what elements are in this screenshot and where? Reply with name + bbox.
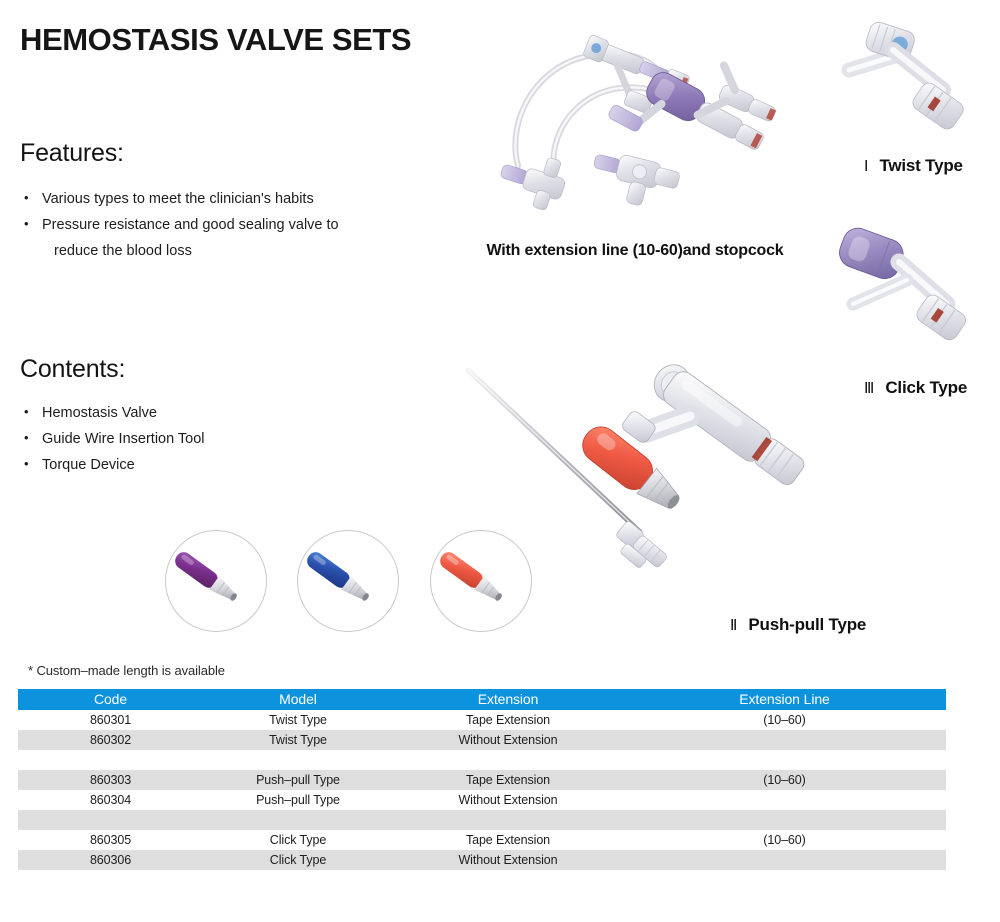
content-text: Hemostasis Valve: [42, 405, 157, 421]
list-item: Hemostasis Valve: [22, 400, 422, 426]
torque-device-blue: [297, 530, 399, 632]
cell-extension: Without Extension: [393, 790, 623, 810]
cell-model: [203, 810, 393, 830]
column-header-model: Model: [203, 689, 393, 710]
cell-extension-line: (10–60): [623, 710, 946, 730]
table-row: 860303 Push–pull Type Tape Extension (10…: [18, 770, 946, 790]
list-item: Guide Wire Insertion Tool: [22, 426, 422, 452]
cell-extension-line: (10–60): [623, 770, 946, 790]
cell-model: Click Type: [203, 850, 393, 870]
cell-code: 860301: [18, 710, 203, 730]
twist-type-photo: [835, 12, 995, 137]
cell-code: 860302: [18, 730, 203, 750]
torque-device-purple: [165, 530, 267, 632]
content-text: Guide Wire Insertion Tool: [42, 431, 205, 447]
table-header-row: Code Model Extension Extension Line: [18, 689, 946, 710]
table-row: 860302 Twist Type Without Extension: [18, 730, 946, 750]
roman-numeral-one: Ⅰ: [864, 157, 869, 175]
cell-extension-line: (10–60): [623, 830, 946, 850]
table-row: 860301 Twist Type Tape Extension (10–60): [18, 710, 946, 730]
cell-extension-line: [623, 730, 946, 750]
table-row: 860305 Click Type Tape Extension (10–60): [18, 830, 946, 850]
cell-model: Push–pull Type: [203, 790, 393, 810]
content-text: Torque Device: [42, 457, 135, 473]
cell-extension: Tape Extension: [393, 710, 623, 730]
twist-type-label-text: Twist Type: [879, 156, 962, 175]
torque-device-red: [430, 530, 532, 632]
cell-extension-line: [623, 790, 946, 810]
push-pull-type-label-text: Push-pull Type: [748, 615, 866, 634]
page-title: HEMOSTASIS VALVE SETS: [20, 22, 411, 58]
feature-text: Various types to meet the clinician's ha…: [42, 191, 314, 207]
cell-extension: Tape Extension: [393, 830, 623, 850]
cell-extension: [393, 750, 623, 770]
cell-code: 860305: [18, 830, 203, 850]
cell-code: 860303: [18, 770, 203, 790]
cell-extension-line: [623, 850, 946, 870]
cell-extension: Tape Extension: [393, 770, 623, 790]
click-type-photo: [835, 218, 995, 350]
cell-model: Click Type: [203, 830, 393, 850]
click-type-label-text: Click Type: [885, 378, 967, 397]
features-heading: Features:: [20, 139, 124, 168]
cell-code: 860304: [18, 790, 203, 810]
cell-extension: Without Extension: [393, 850, 623, 870]
table-footnote: * Custom–made length is available: [28, 663, 225, 678]
specification-table: Code Model Extension Extension Line 8603…: [18, 689, 946, 870]
cell-code: [18, 810, 203, 830]
cell-model: Twist Type: [203, 730, 393, 750]
contents-list: Hemostasis Valve Guide Wire Insertion To…: [22, 400, 422, 478]
column-header-code: Code: [18, 689, 203, 710]
cell-extension: Without Extension: [393, 730, 623, 750]
twist-type-label: ⅠTwist Type: [864, 156, 963, 176]
extension-line-stopcock-photo: [470, 8, 800, 233]
list-item: Various types to meet the clinician's ha…: [22, 186, 442, 212]
contents-heading: Contents:: [20, 355, 125, 384]
column-header-extension: Extension: [393, 689, 623, 710]
list-item: Pressure resistance and good sealing val…: [22, 212, 442, 264]
table-row: 860306 Click Type Without Extension: [18, 850, 946, 870]
cell-model: Twist Type: [203, 710, 393, 730]
extension-set-caption: With extension line (10-60)and stopcock: [470, 242, 800, 260]
table-row: 860304 Push–pull Type Without Extension: [18, 790, 946, 810]
table-spacer-row: [18, 750, 946, 770]
cell-extension: [393, 810, 623, 830]
table-spacer-row: [18, 810, 946, 830]
roman-numeral-two: Ⅱ: [730, 616, 738, 634]
column-header-extension-line: Extension Line: [623, 689, 946, 710]
list-item: Torque Device: [22, 452, 422, 478]
push-pull-type-label: ⅡPush-pull Type: [730, 615, 866, 635]
feature-text: Pressure resistance and good sealing val…: [42, 217, 339, 233]
feature-text-continuation: reduce the blood loss: [42, 238, 442, 264]
cell-code: [18, 750, 203, 770]
features-list: Various types to meet the clinician's ha…: [22, 186, 442, 264]
cell-extension-line: [623, 810, 946, 830]
cell-extension-line: [623, 750, 946, 770]
cell-model: [203, 750, 393, 770]
cell-model: Push–pull Type: [203, 770, 393, 790]
cell-code: 860306: [18, 850, 203, 870]
